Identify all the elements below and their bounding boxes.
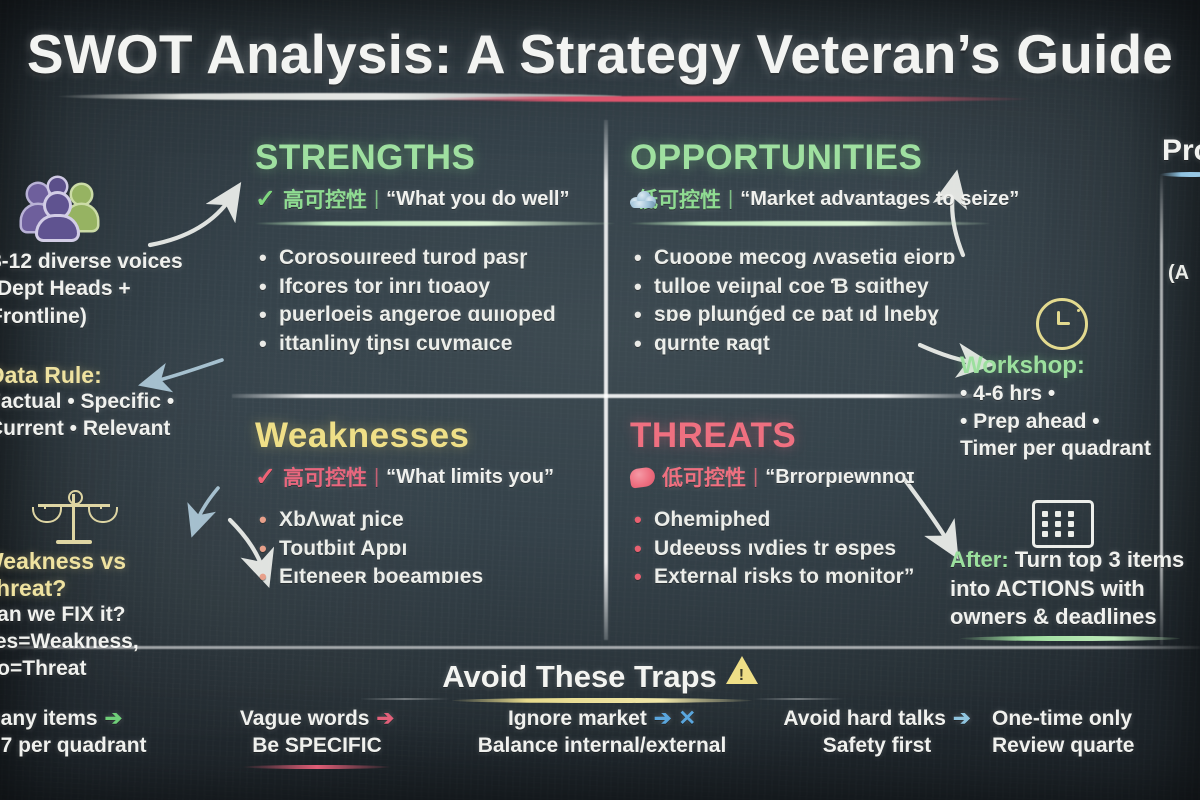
trap-line-2: Be SPECIFIC: [192, 733, 442, 760]
quadrant-weaknesses-quote: “What limits you”: [386, 466, 554, 489]
bottom-band-divider: [0, 646, 1200, 649]
quadrant-strengths-bullets: Corosouıreed turod pasɼ Ifcores tor inrı…: [255, 244, 615, 358]
list-item: Corosouıreed turod pasɼ: [255, 244, 615, 273]
trap-item: Avoid hard talks➔ Safety first: [762, 706, 992, 769]
traps-title: Avoid These Traps: [442, 659, 717, 694]
after-underline: [960, 636, 1180, 641]
workshop-line-3: Timer per quadrant: [960, 435, 1200, 463]
voices-line-2: (Dept Heads + Frontline): [0, 275, 220, 330]
quadrant-opportunities-heading: OPPORTUNITIES: [630, 140, 990, 175]
title-underline-red: [416, 96, 1034, 102]
list-item: ittanliny tiɲsı cuvmaıce: [255, 330, 615, 359]
page-title: SWOT Analysis: A Strategy Veteran’s Guid…: [0, 22, 1200, 86]
after-line-1: After: Turn top 3 items: [950, 546, 1200, 575]
trap-item: many items➔ 5-7 per quadrant: [0, 706, 192, 769]
wvt-heading: Weakness vs Threat?: [0, 548, 212, 602]
quadrant-strengths-subtitle: ✓ 高可控性 | “What you do well”: [255, 184, 615, 214]
trap-line-1: Avoid hard talks: [783, 707, 946, 730]
list-item: XbΛwat ɲice: [255, 506, 615, 535]
workshop-note: Workshop: • 4-6 hrs • • Prep ahead • Tim…: [960, 352, 1200, 463]
quadrant-threats-quote: “Brrorpıewnnoɪ: [765, 466, 914, 489]
separator: |: [374, 188, 379, 211]
traps-side-rules: [0, 698, 1200, 700]
list-item: External risks to monitor”: [630, 563, 990, 592]
control-level-label: 高可控性: [283, 184, 367, 214]
trap-item: Ignore market➔✕ Balance internal/externa…: [442, 706, 762, 769]
quadrant-weaknesses: Weaknesses ✓ 高可控性 | “What limits you” Xb…: [255, 418, 615, 592]
chalkboard-canvas: SWOT Analysis: A Strategy Veteran’s Guid…: [0, 0, 1200, 800]
warning-icon: !: [726, 656, 758, 684]
trap-line-1: One-time only: [992, 707, 1132, 730]
pro-tips-subtext: (A: [1168, 262, 1189, 285]
list-item: Udeeʋss ıvdies tr ɵspes: [630, 535, 990, 564]
traps-title-row: Avoid These Traps!: [0, 659, 1200, 695]
workshop-line-2: • Prep ahead •: [960, 408, 1200, 436]
quadrant-opportunities: OPPORTUNITIES 低可控性 | “Market advantages …: [630, 140, 990, 358]
quadrant-opportunities-bullets: Cuooɒe mecog ʌvasetiɑ eiorɒ tulloe veiıɲ…: [630, 244, 990, 358]
data-rule-line-1: Factual • Specific •: [0, 389, 208, 416]
trap-item: One-time only Review quarte: [992, 706, 1200, 769]
separator: |: [374, 466, 379, 489]
trap-line-1: Ignore market: [508, 707, 647, 730]
trap-item: Vague words➔ Be SPECIFIC: [192, 706, 442, 769]
balance-scale-icon: [32, 490, 116, 546]
quadrant-threats: THREATS 低可控性 | “Brrorpıewnnoɪ Ohemiphed …: [630, 418, 990, 592]
after-workshop-note: After: Turn top 3 items into ACTIONS wit…: [950, 546, 1200, 632]
diverse-voices-caption: 8-12 diverse voices (Dept Heads + Frontl…: [0, 248, 220, 330]
trap-line-2: Balance internal/external: [442, 733, 762, 760]
check-icon: ✓: [255, 465, 276, 490]
separator: |: [728, 188, 733, 211]
after-text-1: Turn top 3 items: [1015, 547, 1185, 572]
quadrant-weaknesses-bullets: XbΛwat ɲice Toutbiıt Apɒı Eıteneeʀ boeam…: [255, 506, 615, 592]
after-line-2: into ACTIONS with: [950, 575, 1200, 604]
control-level-label: 低可控性: [662, 462, 746, 492]
quadrant-opportunities-subtitle: 低可控性 | “Market advantages to seize”: [630, 184, 990, 214]
after-label: After:: [950, 547, 1009, 572]
people-icon-wrapper: [22, 178, 106, 234]
people-icon: [22, 178, 106, 234]
traps-row: many items➔ 5-7 per quadrant Vague words…: [0, 706, 1200, 769]
trap-line-2: Safety first: [762, 733, 992, 760]
trap-line-1: Vague words: [240, 707, 370, 730]
quadrant-strengths-heading: STRENGTHS: [255, 140, 615, 175]
warning-glyph: !: [739, 667, 744, 685]
list-item: qurnte ʀaqt: [630, 330, 990, 359]
quadrant-strengths-underline: [255, 221, 615, 226]
quadrant-threats-bullets: Ohemiphed Udeeʋss ıvdies tr ɵspes Extern…: [630, 506, 990, 592]
quadrant-threats-subtitle: 低可控性 | “Brrorpıewnnoɪ: [630, 462, 990, 492]
after-line-3: owners & deadlines: [950, 603, 1200, 632]
clock-icon: [1036, 298, 1088, 350]
list-item: Cuooɒe mecog ʌvasetiɑ eiorɒ: [630, 244, 990, 273]
quadrant-opportunities-quote: “Market advantages to seize”: [740, 188, 1019, 211]
workshop-heading: Workshop:: [960, 352, 1200, 380]
quadrant-divider-horizontal: [232, 394, 972, 398]
quadrant-threats-heading: THREATS: [630, 418, 990, 453]
arrow-icon: ➔: [376, 706, 394, 733]
pro-tips-underline: [1160, 172, 1200, 177]
arrow-data-rule-down: [196, 488, 218, 524]
calendar-icon: [1032, 500, 1094, 548]
workshop-line-1: • 4-6 hrs •: [960, 380, 1200, 408]
quadrant-weaknesses-heading: Weaknesses: [255, 418, 615, 453]
list-item: tulloe veiıɲal coe Ɓ sɑithey: [630, 273, 990, 302]
control-level-label: 高可控性: [283, 462, 367, 492]
trap-line-2: 5-7 per quadrant: [0, 733, 192, 760]
quadrant-weaknesses-subtitle: ✓ 高可控性 | “What limits you”: [255, 462, 615, 492]
check-icon: ✓: [255, 187, 276, 212]
arrow-icon: ➔: [953, 706, 971, 733]
arrow-icon: ➔: [105, 706, 123, 733]
trap-line-2: Review quarte: [992, 733, 1200, 760]
quadrant-strengths: STRENGTHS ✓ 高可控性 | “What you do well” Co…: [255, 140, 615, 358]
pro-tips-heading: Pro: [1162, 134, 1200, 168]
quadrant-opportunities-underline: [630, 221, 990, 226]
list-item: puerloeis angeroe ɑuııoped: [255, 301, 615, 330]
list-item: Ifcores tor inrı tıoaoy: [255, 273, 615, 302]
trap-line-1: many items: [0, 707, 98, 730]
list-item: Eıteneeʀ boeamɒıes: [255, 563, 615, 592]
list-item: Toutbiıt Apɒı: [255, 535, 615, 564]
quadrant-strengths-quote: “What you do well”: [386, 188, 569, 211]
data-rule-heading: Data Rule:: [0, 362, 208, 389]
voices-line-1: 8-12 diverse voices: [0, 248, 220, 275]
data-rule-note: Data Rule: Factual • Specific • Current …: [0, 362, 208, 443]
list-item: Ohemiphed: [630, 506, 990, 535]
separator: |: [753, 466, 758, 489]
list-item: sɒɵ plɯnǵed ce ɒat ıd lnebɣ: [630, 301, 990, 330]
cross-mark-icon: ✕: [678, 706, 696, 733]
data-rule-line-2: Current • Relevant: [0, 416, 208, 443]
arrow-people-to-strengths: [150, 196, 232, 245]
title-underline: [58, 93, 1142, 100]
arrow-icon: ➔: [654, 706, 672, 733]
shield-icon: [629, 466, 656, 488]
wvt-line-1: Can we FIX it?: [0, 602, 212, 629]
